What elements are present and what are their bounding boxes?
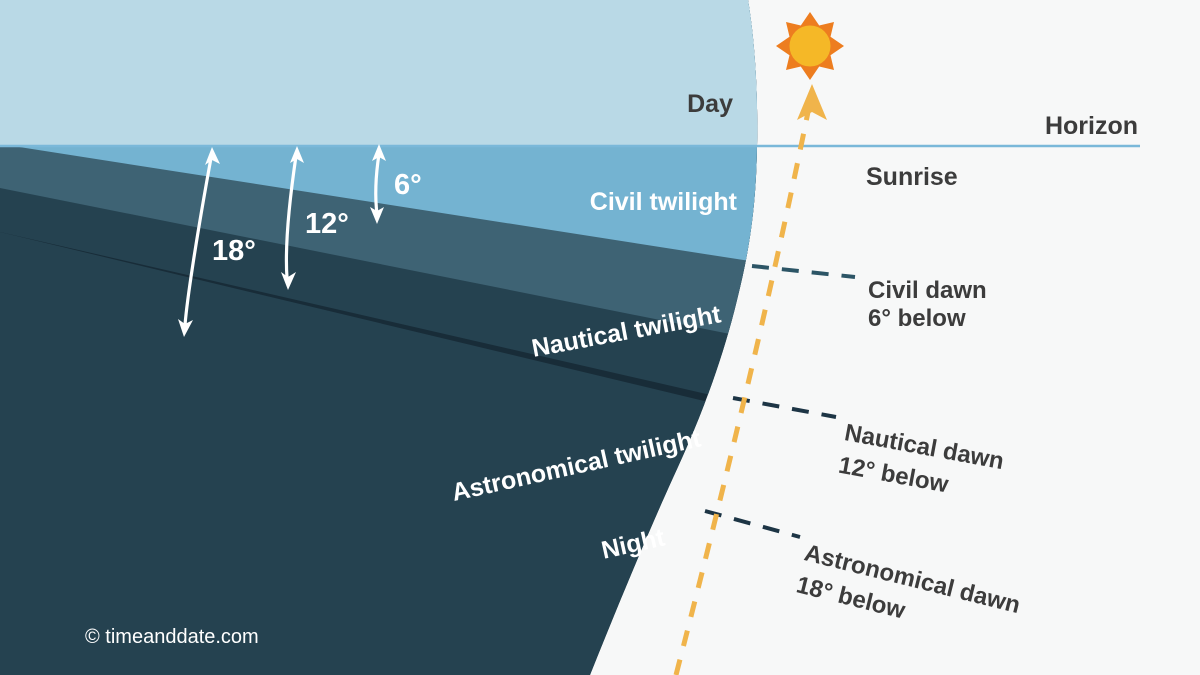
sun-path-arrow-icon <box>797 84 827 120</box>
band-label-civil-twilight: Civil twilight <box>590 188 738 216</box>
callout-civil-dawn-line2: 6° below <box>868 305 966 332</box>
sunrise-label: Sunrise <box>866 163 958 191</box>
callout-astronomical-dawn: Astronomical dawn 18° below <box>794 539 1023 651</box>
nautical-dawn-leader-line <box>733 398 836 417</box>
astronomical-dawn-leader-line <box>705 511 800 537</box>
credit-text: © timeanddate.com <box>85 626 259 648</box>
civil-dawn-leader-line <box>752 266 855 277</box>
callout-civil-dawn-line1: Civil dawn <box>868 277 987 304</box>
twilight-diagram: 6° 12° 18° Day Civil twilight Nautical t… <box>0 0 1200 675</box>
callout-nautical-dawn: Nautical dawn 12° below <box>836 419 1006 507</box>
angle-label-6: 6° <box>394 169 422 201</box>
angle-label-18: 18° <box>212 235 256 267</box>
band-day <box>0 0 820 146</box>
diagram-canvas: 6° 12° 18° Day Civil twilight Nautical t… <box>0 0 1200 675</box>
horizon-label: Horizon <box>1045 112 1138 140</box>
band-label-day: Day <box>687 90 733 118</box>
sun-icon <box>776 12 844 80</box>
angle-label-12: 12° <box>305 208 349 240</box>
callout-civil-dawn: Civil dawn 6° below <box>868 277 987 332</box>
